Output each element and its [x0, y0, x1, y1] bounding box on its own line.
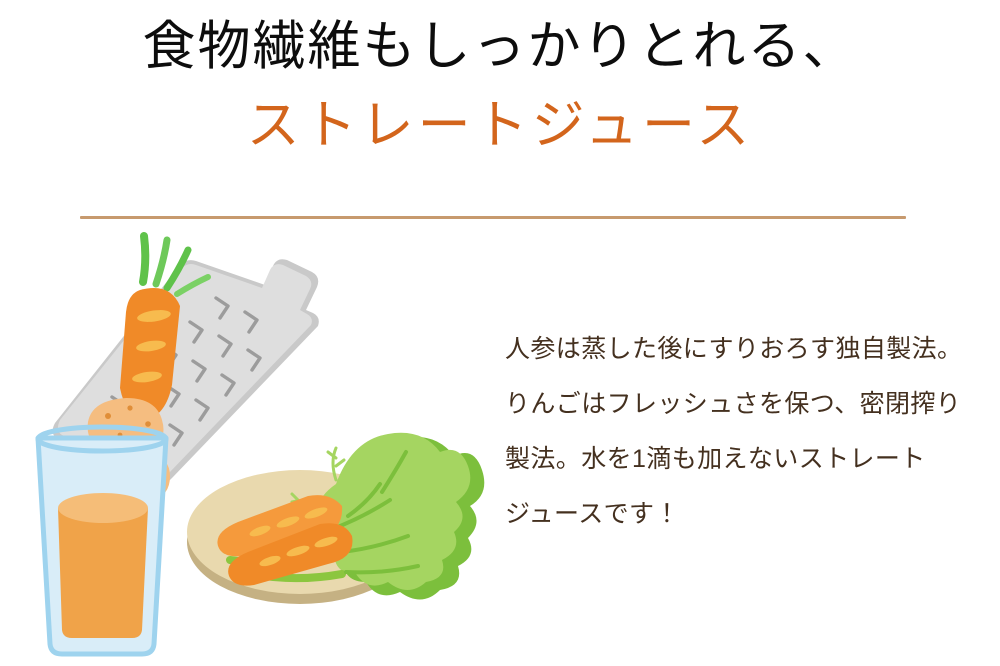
body-line-1: 人参は蒸した後にすりおろす独自製法。	[505, 322, 975, 377]
headline-block: 食物繊維もしっかりとれる、 ストレートジュース	[0, 14, 1000, 162]
juice-glass	[38, 427, 166, 654]
headline-line-1: 食物繊維もしっかりとれる、	[0, 14, 1000, 82]
headline-line-2: ストレートジュース	[0, 92, 1000, 162]
carrot-juice	[58, 508, 148, 638]
body-line-2: りんごはフレッシュさを保つ、密閉搾り	[505, 377, 975, 432]
horizontal-divider	[80, 216, 906, 219]
juice-surface	[58, 493, 148, 523]
illustration-svg	[30, 230, 490, 660]
promo-banner: 食物繊維もしっかりとれる、 ストレートジュース	[0, 0, 1000, 666]
body-copy: 人参は蒸した後にすりおろす独自製法。 りんごはフレッシュさを保つ、密閉搾り 製法…	[505, 322, 975, 542]
body-line-3: 製法。水を1滴も加えないストレート	[505, 432, 975, 487]
body-line-4: ジュースです！	[505, 487, 975, 542]
carrot-juice-illustration	[30, 230, 490, 660]
